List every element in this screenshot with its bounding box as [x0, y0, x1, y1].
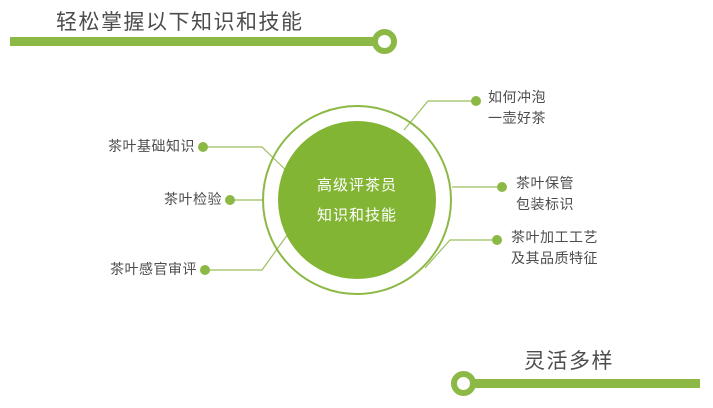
spoke-label-left-2[interactable]: 茶叶检验 [0, 190, 222, 211]
spoke-label-right-3[interactable]: 茶叶加工工艺 及其品质特征 [511, 228, 598, 270]
spoke-label-left-3-line1: 茶叶感官审评 [0, 260, 197, 281]
spoke-label-right-1-line2: 一壶好茶 [488, 109, 546, 130]
top-banner-bar [10, 37, 386, 46]
spoke-label-right-3-line2: 及其品质特征 [511, 249, 598, 270]
spoke-label-left-1-line1: 茶叶基础知识 [0, 137, 195, 158]
center-label-line2: 知识和技能 [317, 200, 397, 230]
spoke-label-left-2-line1: 茶叶检验 [0, 190, 222, 211]
spoke-label-right-2-line2: 包装标识 [516, 195, 574, 216]
node-dot-left-2 [225, 195, 235, 205]
node-dot-right-3 [492, 235, 502, 245]
spoke-label-right-2-line1: 茶叶保管 [516, 174, 574, 195]
spoke-label-right-2[interactable]: 茶叶保管 包装标识 [516, 174, 574, 216]
bottom-banner-bar [462, 379, 700, 388]
node-dot-right-1 [471, 96, 481, 106]
spoke-label-left-3[interactable]: 茶叶感官审评 [0, 260, 197, 281]
infographic-canvas: 轻松掌握以下知识和技能 高级评茶员 知识和技能 茶叶基础知识 茶叶检验 [0, 0, 713, 408]
footer-title: 灵活多样 [524, 351, 614, 372]
spoke-label-right-3-line1: 茶叶加工工艺 [511, 228, 598, 249]
spoke-label-right-1-line1: 如何冲泡 [488, 88, 546, 109]
center-label-line1: 高级评茶员 [317, 170, 397, 200]
node-dot-left-1 [198, 142, 208, 152]
center-inner-disc: 高级评茶员 知识和技能 [278, 121, 436, 279]
spoke-label-left-1[interactable]: 茶叶基础知识 [0, 137, 195, 158]
center-node: 高级评茶员 知识和技能 [262, 105, 452, 295]
node-dot-right-2 [497, 182, 507, 192]
page-title: 轻松掌握以下知识和技能 [56, 12, 304, 33]
node-dot-left-3 [200, 265, 210, 275]
bottom-banner-ring-icon [451, 371, 476, 396]
spoke-label-right-1[interactable]: 如何冲泡 一壶好茶 [488, 88, 546, 130]
top-banner-ring-icon [372, 29, 397, 54]
